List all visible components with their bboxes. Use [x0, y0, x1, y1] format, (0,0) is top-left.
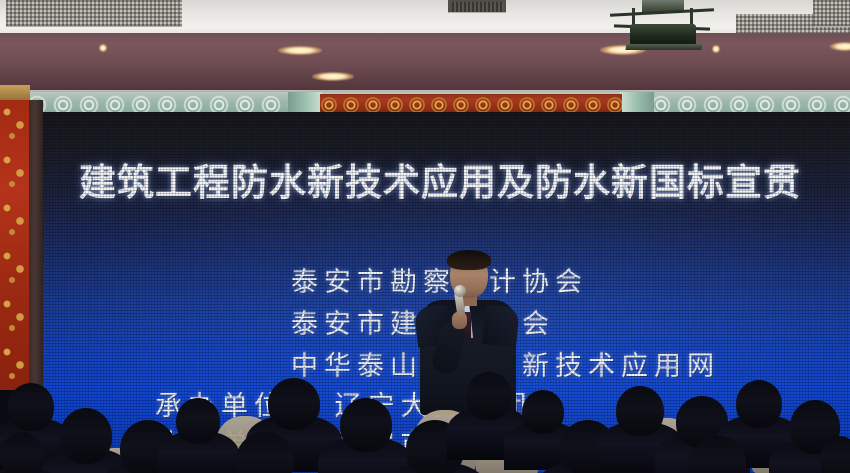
slide-main-title: 建筑工程防水新技术应用及防水新国标宣贯: [79, 152, 850, 206]
audience-member-head: [466, 372, 512, 420]
projector-body: [630, 24, 696, 46]
audience-member-head: [0, 432, 44, 473]
projector-lens-shroud: [625, 44, 702, 50]
downlight: [278, 46, 322, 55]
audience-member-head: [176, 398, 220, 444]
downlight: [312, 72, 354, 81]
audience-member-head: [268, 378, 320, 430]
presenter-hand: [452, 312, 467, 329]
audience-member-head: [60, 408, 112, 464]
audience-member-head: [522, 390, 564, 434]
ceiling-soffit: [0, 33, 850, 95]
audience-member-head: [8, 383, 54, 431]
audience-area: [0, 343, 850, 473]
presenter-shoulder-right: [482, 304, 520, 347]
downlight: [99, 44, 107, 52]
conference-hall-photo: 建筑工程防水新技术应用及防水新国标宣贯 泰安市勘察设计协会 泰安市建筑业协会 中…: [0, 0, 850, 473]
ceiling-air-vent: [6, 0, 182, 27]
presenter-hair: [447, 250, 491, 270]
microphone-head-icon: [454, 285, 466, 297]
audience-member-head: [340, 398, 392, 452]
ceiling-projector: [608, 0, 716, 48]
audience-member-head: [616, 386, 664, 436]
ceiling-air-vent: [452, 2, 504, 13]
audience-member-head: [736, 380, 782, 428]
ceiling-air-vent: [813, 0, 850, 27]
